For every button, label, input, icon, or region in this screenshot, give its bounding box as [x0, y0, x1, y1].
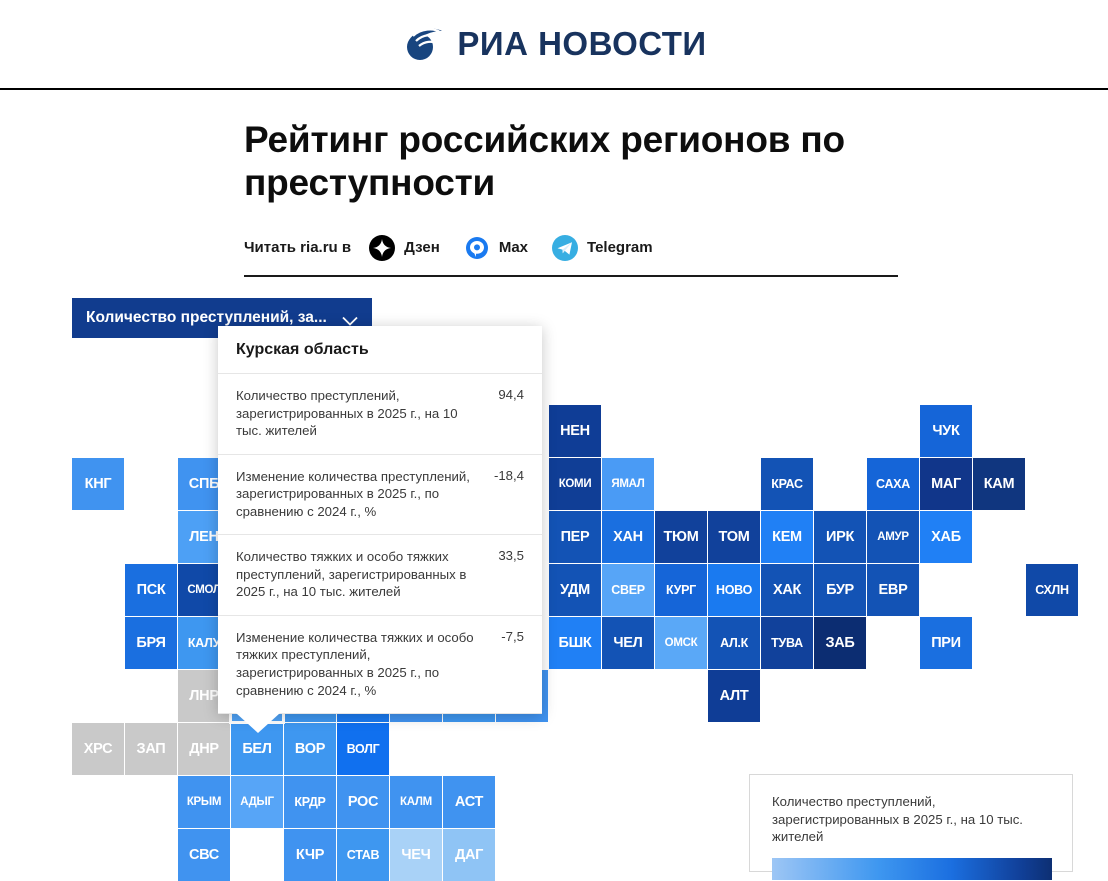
- map-tile-евр[interactable]: ЕВР: [867, 564, 919, 616]
- map-tile-при[interactable]: ПРИ: [920, 617, 972, 669]
- map-tile-свер[interactable]: СВЕР: [602, 564, 654, 616]
- tooltip-metric-value: 94,4: [498, 387, 524, 402]
- map-tile-бря[interactable]: БРЯ: [125, 617, 177, 669]
- map-tile-ирк[interactable]: ИРК: [814, 511, 866, 563]
- map-tile-заб[interactable]: ЗАБ: [814, 617, 866, 669]
- map-tile-калм[interactable]: КАЛМ: [390, 776, 442, 828]
- ria-novosti-logo[interactable]: РИА НОВОСТИ: [401, 23, 706, 65]
- map-tile-даг[interactable]: ДАГ: [443, 829, 495, 881]
- tooltip-metric-value: 33,5: [498, 548, 524, 563]
- map-tile-чук[interactable]: ЧУК: [920, 405, 972, 457]
- map-tile-удм[interactable]: УДМ: [549, 564, 601, 616]
- map-tile-рос[interactable]: РОС: [337, 776, 389, 828]
- share-link-label: Дзен: [404, 239, 440, 256]
- region-tooltip: Курская область Количество преступлений,…: [218, 326, 542, 714]
- chevron-down-icon: [342, 313, 358, 323]
- map-tile-зап[interactable]: ЗАП: [125, 723, 177, 775]
- brand-name: РИА НОВОСТИ: [457, 25, 706, 63]
- tooltip-metric-row: Количество преступлений, зарегистрирован…: [218, 374, 542, 455]
- tooltip-metric-value: -7,5: [501, 629, 524, 644]
- share-link-max[interactable]: Max: [464, 235, 528, 261]
- tooltip-metric-row: Количество тяжких и особо тяжких преступ…: [218, 535, 542, 616]
- map-legend: Количество преступлений, зарегистрирован…: [749, 774, 1073, 872]
- legend-caption: Количество преступлений, зарегистрирован…: [772, 793, 1050, 846]
- dzen-icon: [369, 235, 395, 261]
- tooltip-metric-label: Изменение количества преступлений, зарег…: [236, 468, 482, 521]
- legend-gradient-bar: [772, 858, 1052, 880]
- map-tile-омск[interactable]: ОМСК: [655, 617, 707, 669]
- map-tile-кург[interactable]: КУРГ: [655, 564, 707, 616]
- map-tile-маг[interactable]: МАГ: [920, 458, 972, 510]
- map-tile-коми[interactable]: КОМИ: [549, 458, 601, 510]
- map-tile-том[interactable]: ТОМ: [708, 511, 760, 563]
- map-tile-схлн[interactable]: СХЛН: [1026, 564, 1078, 616]
- map-tile-нен[interactable]: НЕН: [549, 405, 601, 457]
- map-tile-крдр[interactable]: КРДР: [284, 776, 336, 828]
- tooltip-metric-row: Изменение количества тяжких и особо тяжк…: [218, 616, 542, 714]
- map-tile-днр[interactable]: ДНР: [178, 723, 230, 775]
- metric-select-value: Количество преступлений, за...: [86, 309, 327, 327]
- tooltip-metric-label: Количество тяжких и особо тяжких преступ…: [236, 548, 486, 601]
- share-link-telegram[interactable]: Telegram: [552, 235, 653, 261]
- tooltip-region-name: Курская область: [218, 326, 542, 374]
- map-tile-тюм[interactable]: ТЮМ: [655, 511, 707, 563]
- map-tile-пск[interactable]: ПСК: [125, 564, 177, 616]
- map-tile-ямал[interactable]: ЯМАЛ: [602, 458, 654, 510]
- region-map-widget: Количество преступлений, за... НЕНЧУККНГ…: [0, 268, 1108, 872]
- map-tile-пер[interactable]: ПЕР: [549, 511, 601, 563]
- map-tile-кам[interactable]: КАМ: [973, 458, 1025, 510]
- map-tile-хрс[interactable]: ХРС: [72, 723, 124, 775]
- map-tile-адыг[interactable]: АДЫГ: [231, 776, 283, 828]
- tooltip-metric-label: Количество преступлений, зарегистрирован…: [236, 387, 486, 440]
- tooltip-metric-label: Изменение количества тяжких и особо тяжк…: [236, 629, 489, 699]
- article-header: Рейтинг российских регионов по преступно…: [0, 90, 1108, 277]
- map-tile-хан[interactable]: ХАН: [602, 511, 654, 563]
- map-tile-волг[interactable]: ВОЛГ: [337, 723, 389, 775]
- map-tile-кнг[interactable]: КНГ: [72, 458, 124, 510]
- telegram-icon: [552, 235, 578, 261]
- map-tile-свс[interactable]: СВС: [178, 829, 230, 881]
- share-label: Читать ria.ru в: [244, 239, 351, 256]
- map-tile-амур[interactable]: АМУР: [867, 511, 919, 563]
- ria-swirl-logo-icon: [401, 23, 443, 65]
- tooltip-metric-value: -18,4: [494, 468, 524, 483]
- map-tile-тува[interactable]: ТУВА: [761, 617, 813, 669]
- map-tile-кем[interactable]: КЕМ: [761, 511, 813, 563]
- map-tile-крым[interactable]: КРЫМ: [178, 776, 230, 828]
- map-tile-чел[interactable]: ЧЕЛ: [602, 617, 654, 669]
- share-link-label: Telegram: [587, 239, 653, 256]
- map-tile-бшк[interactable]: БШК: [549, 617, 601, 669]
- map-tile-аст[interactable]: АСТ: [443, 776, 495, 828]
- map-tile-ново[interactable]: НОВО: [708, 564, 760, 616]
- tooltip-metric-row: Изменение количества преступлений, зарег…: [218, 455, 542, 536]
- map-tile-хаб[interactable]: ХАБ: [920, 511, 972, 563]
- share-link-label: Max: [499, 239, 528, 256]
- page-title: Рейтинг российских регионов по преступно…: [244, 118, 864, 205]
- map-tile-став[interactable]: СТАВ: [337, 829, 389, 881]
- map-tile-бур[interactable]: БУР: [814, 564, 866, 616]
- map-tile-чеч[interactable]: ЧЕЧ: [390, 829, 442, 881]
- site-header: РИА НОВОСТИ: [0, 0, 1108, 90]
- map-tile-алт[interactable]: АЛТ: [708, 670, 760, 722]
- share-link-dzen[interactable]: Дзен: [369, 235, 440, 261]
- map-tile-крас[interactable]: КРАС: [761, 458, 813, 510]
- max-icon: [464, 235, 490, 261]
- map-tile-алк[interactable]: АЛ.К: [708, 617, 760, 669]
- map-tile-хак[interactable]: ХАК: [761, 564, 813, 616]
- map-tile-вор[interactable]: ВОР: [284, 723, 336, 775]
- map-tile-саха[interactable]: САХА: [867, 458, 919, 510]
- map-tile-кчр[interactable]: КЧР: [284, 829, 336, 881]
- tooltip-pointer-icon: [236, 713, 280, 733]
